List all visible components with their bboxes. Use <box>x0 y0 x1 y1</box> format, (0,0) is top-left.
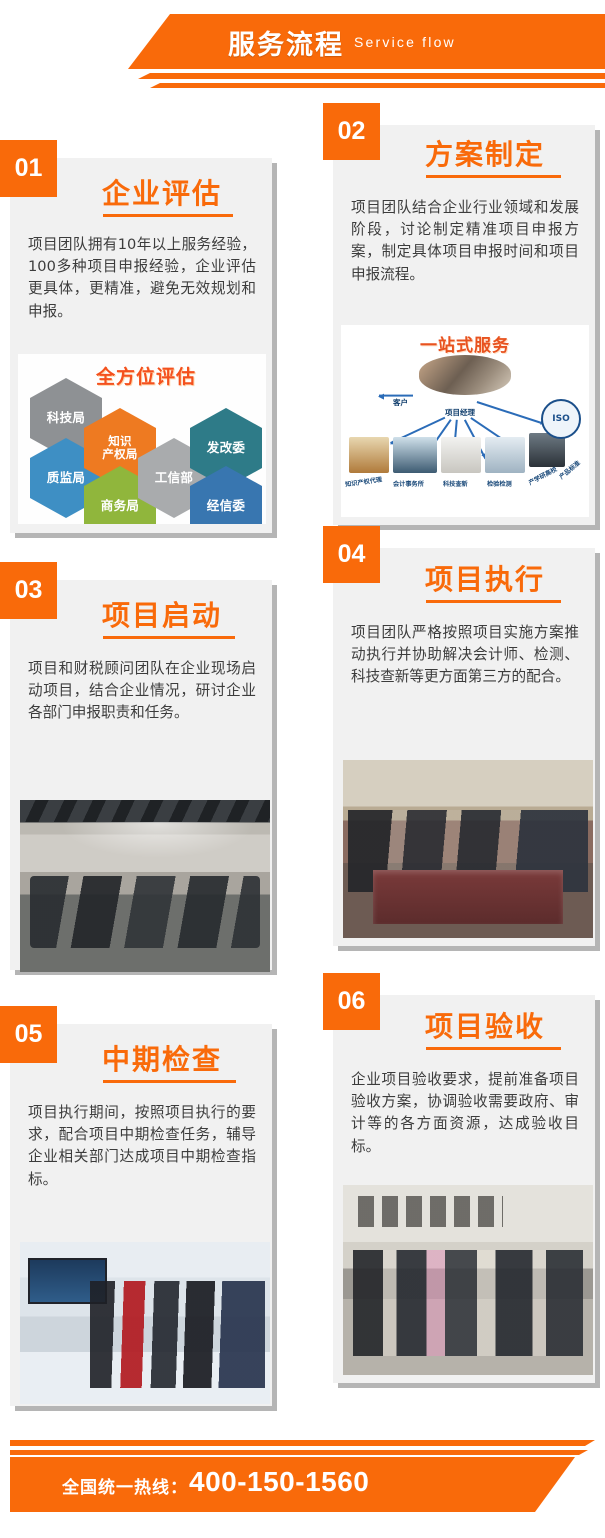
step-card-03: 03 项目启动 项目和财税顾问团队在企业现场启动项目，结合企业情况，研讨企业各部… <box>10 580 272 970</box>
title-underline <box>103 214 233 217</box>
title-underline <box>426 600 561 603</box>
title-underline <box>103 1080 236 1083</box>
arrow-to-customer <box>379 395 413 397</box>
one-stop-footlabel-university: 产学研高校 <box>527 464 559 486</box>
infographic-page: 服务流程 Service flow 01 企业评估 项目团队拥有10年以上服务经… <box>0 0 605 1538</box>
one-stop-title: 一站式服务 <box>420 331 510 356</box>
one-stop-node-search <box>441 437 481 473</box>
card-photo-meeting-room <box>20 800 270 972</box>
header-stripe-lower <box>150 83 605 88</box>
card-title: 项目执行 <box>425 558 545 598</box>
step-card-02: 02 方案制定 项目团队结合企业行业领域和发展阶段，讨论制定精准项目申报方案，制… <box>333 125 595 525</box>
step-number-badge: 05 <box>0 1006 57 1063</box>
card-description: 企业项目验收要求，提前准备项目验收方案，协调验收需要政府、审计等的各方面资源，达… <box>351 1069 579 1158</box>
card-photo-desk-working <box>343 760 593 938</box>
one-stop-hero-photo <box>419 355 511 395</box>
page-subtitle: Service flow <box>354 34 456 50</box>
page-title: 服务流程 <box>228 23 344 62</box>
step-number-badge: 03 <box>0 562 57 619</box>
card-title: 方案制定 <box>425 133 545 173</box>
card-title: 项目启动 <box>102 594 222 634</box>
hotline-label: 全国统一热线： <box>62 1473 188 1498</box>
card-photo-boardroom <box>343 1185 593 1375</box>
one-stop-footlabel-search: 科技查新 <box>443 479 468 488</box>
header-banner: 服务流程 Service flow <box>128 14 605 69</box>
one-stop-node-testing <box>485 437 525 473</box>
title-underline <box>103 636 235 639</box>
card-photo-showroom-visit <box>20 1242 270 1404</box>
card-title: 项目验收 <box>425 1005 545 1045</box>
page-header: 服务流程 Service flow <box>0 14 605 92</box>
one-stop-node-accounting <box>393 437 437 473</box>
one-stop-service-diagram: 一站式服务 客户 项目经理 ISO 知识产权代理 会计事务所 科技查新 检验检测… <box>341 325 589 517</box>
one-stop-footlabel-testing: 检验检测 <box>487 479 512 488</box>
step-number-badge: 06 <box>323 973 380 1030</box>
step-card-05: 05 中期检查 项目执行期间，按照项目执行的要求，配合项目中期检查任务，辅导企业… <box>10 1024 272 1406</box>
one-stop-label-customer: 客户 <box>393 397 408 408</box>
card-description: 项目团队严格按照项目实施方案推动执行并协助解决会计师、检测、科技查新等更方面第三… <box>351 622 579 689</box>
card-title: 企业评估 <box>102 172 222 212</box>
one-stop-footlabel-ip: 知识产权代理 <box>345 474 383 488</box>
step-card-04: 04 项目执行 项目团队严格按照项目实施方案推动执行并协助解决会计师、检测、科技… <box>333 548 595 946</box>
iso-seal-icon: ISO <box>541 399 581 439</box>
card-description: 项目和财税顾问团队在企业现场启动项目，结合企业情况，研讨企业各部门申报职责和任务… <box>28 658 256 725</box>
title-underline <box>426 175 561 178</box>
title-underline <box>426 1047 561 1050</box>
card-description: 项目执行期间，按照项目执行的要求，配合项目中期检查任务，辅导企业相关部门达成项目… <box>28 1102 256 1191</box>
step-card-01: 01 企业评估 项目团队拥有10年以上服务经验，100多种项目申报经验，企业评估… <box>10 158 272 533</box>
card-description: 项目团队拥有10年以上服务经验，100多种项目申报经验，企业评估更具体，更精准，… <box>28 234 256 323</box>
step-number-badge: 01 <box>0 140 57 197</box>
header-stripe-upper <box>138 73 605 79</box>
footer-stripe-lower <box>10 1450 588 1455</box>
one-stop-footlabel-accounting: 会计事务所 <box>393 479 424 488</box>
hotline-number[interactable]: 400-150-1560 <box>189 1466 369 1498</box>
hex-assessment-diagram: 全方位评估 科技局 质监局 知识 产权局 商务局 工信部 发改委 经信委 <box>18 354 266 524</box>
footer-stripe-upper <box>10 1440 595 1446</box>
card-title: 中期检查 <box>102 1038 222 1078</box>
step-number-badge: 04 <box>323 526 380 583</box>
card-description: 项目团队结合企业行业领域和发展阶段，讨论制定精准项目申报方案，制定具体项目申报时… <box>351 197 579 286</box>
one-stop-node-ip <box>349 437 389 473</box>
arrow-to-right <box>477 401 546 425</box>
step-card-06: 06 项目验收 企业项目验收要求，提前准备项目验收方案，协调验收需要政府、审计等… <box>333 995 595 1383</box>
hex-diagram-title: 全方位评估 <box>96 362 196 389</box>
step-number-badge: 02 <box>323 103 380 160</box>
